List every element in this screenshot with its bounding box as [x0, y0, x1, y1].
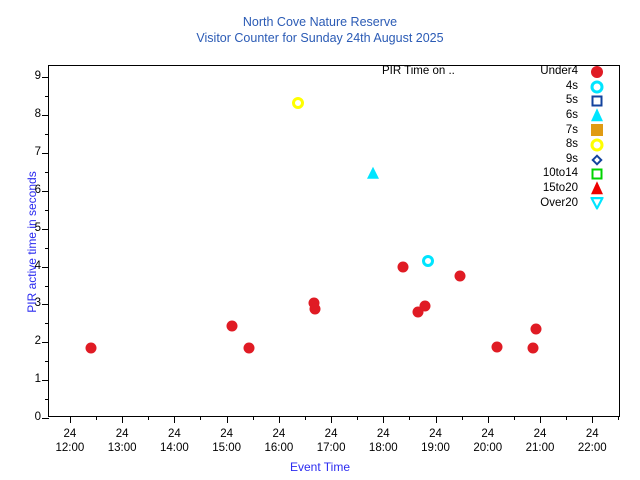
marker-triangle-up-filled — [591, 108, 603, 121]
legend-item-marker — [584, 166, 610, 181]
y-axis-tick-label: 1 — [13, 373, 41, 385]
legend: PIR Time on .. Under44s5s6s7s8s9s10to141… — [382, 64, 610, 210]
x-axis-minor-tick — [96, 416, 97, 420]
y-axis-tick-label: 5 — [13, 222, 41, 234]
x-axis-tick — [383, 416, 384, 423]
legend-item-label: 9s — [566, 153, 584, 165]
legend-item-9s[interactable]: 9s — [382, 152, 610, 167]
data-point — [420, 300, 431, 311]
legend-item-label: 5s — [566, 94, 584, 106]
marker-diamond-open — [591, 154, 602, 165]
y-axis-minor-tick — [45, 134, 49, 135]
y-axis-tick — [42, 304, 49, 305]
legend-item-marker — [584, 195, 610, 210]
marker-triangle-down-open — [591, 197, 604, 210]
x-axis-tick-day: 24 — [557, 428, 627, 442]
x-axis-minor-tick — [618, 416, 619, 420]
data-point — [527, 343, 538, 354]
data-point — [455, 270, 466, 281]
marker-circle-open — [591, 138, 604, 151]
chart-title: North Cove Nature Reserve Visitor Counte… — [0, 14, 640, 46]
y-axis-tick — [42, 115, 49, 116]
legend-item-15to20[interactable]: 15to20 — [382, 181, 610, 196]
y-axis-tick — [42, 267, 49, 268]
legend-item-over20[interactable]: Over20 — [382, 195, 610, 210]
y-axis-tick — [42, 229, 49, 230]
y-axis-tick-label: 8 — [13, 108, 41, 120]
marker-triangle-up-filled — [591, 181, 603, 194]
marker-square-open — [592, 169, 603, 180]
legend-item-10to14[interactable]: 10to14 — [382, 166, 610, 181]
x-axis-minor-tick — [305, 416, 306, 420]
data-point — [367, 167, 379, 179]
y-axis-tick-label: 4 — [13, 260, 41, 272]
data-point — [398, 261, 409, 272]
legend-item-label: Over20 — [540, 197, 584, 209]
legend-item-marker — [584, 64, 610, 79]
x-axis-minor-tick — [409, 416, 410, 420]
y-axis-tick — [42, 191, 49, 192]
y-axis-tick-label: 3 — [13, 297, 41, 309]
y-axis-tick-label: 6 — [13, 184, 41, 196]
y-axis-tick-label: 9 — [13, 70, 41, 82]
y-axis-tick-label: 0 — [13, 411, 41, 423]
x-axis-tick — [122, 416, 123, 423]
y-axis-minor-tick — [45, 361, 49, 362]
legend-item-marker — [584, 93, 610, 108]
y-axis-minor-tick — [45, 172, 49, 173]
y-axis-minor-tick — [45, 210, 49, 211]
x-axis-label: Event Time — [0, 460, 640, 474]
x-axis-tick-label: 2422:00 — [557, 428, 627, 455]
x-axis-tick-time: 22:00 — [557, 442, 627, 456]
y-axis-minor-tick — [45, 323, 49, 324]
y-axis-tick — [42, 77, 49, 78]
legend-item-6s[interactable]: 6s — [382, 108, 610, 123]
chart-title-line-1: North Cove Nature Reserve — [0, 14, 640, 30]
y-axis-minor-tick — [45, 286, 49, 287]
x-axis-minor-tick — [200, 416, 201, 420]
legend-item-marker — [584, 152, 610, 167]
x-axis-tick — [540, 416, 541, 423]
legend-item-7s[interactable]: 7s — [382, 122, 610, 137]
x-axis-tick — [227, 416, 228, 423]
y-axis-tick — [42, 380, 49, 381]
data-point — [85, 342, 96, 353]
data-point — [292, 97, 304, 109]
x-axis-tick — [436, 416, 437, 423]
x-axis-minor-tick — [148, 416, 149, 420]
legend-item-label: 4s — [566, 80, 584, 92]
legend-item-label: 15to20 — [543, 182, 584, 194]
x-axis-minor-tick — [253, 416, 254, 420]
marker-square-open — [592, 96, 603, 107]
data-point — [310, 304, 321, 315]
y-axis-tick-label: 7 — [13, 146, 41, 158]
data-point — [492, 341, 503, 352]
data-point — [243, 343, 254, 354]
chart-title-line-2: Visitor Counter for Sunday 24th August 2… — [0, 30, 640, 46]
legend-item-label: 6s — [566, 109, 584, 121]
marker-square-filled — [591, 124, 603, 136]
legend-item-marker — [584, 79, 610, 94]
legend-item-label: 10to14 — [543, 167, 584, 179]
x-axis-tick — [488, 416, 489, 423]
x-axis-minor-tick — [462, 416, 463, 420]
legend-item-label: Under4 — [540, 65, 584, 77]
y-axis-tick — [42, 153, 49, 154]
legend-item-marker — [584, 108, 610, 123]
y-axis-tick — [42, 418, 49, 419]
legend-item-8s[interactable]: 8s — [382, 137, 610, 152]
legend-item-under4[interactable]: Under4 — [382, 64, 610, 79]
y-axis-tick — [42, 342, 49, 343]
legend-item-marker — [584, 122, 610, 137]
marker-circle-filled — [591, 66, 603, 78]
legend-item-marker — [584, 137, 610, 152]
x-axis-tick — [279, 416, 280, 423]
y-axis-minor-tick — [45, 399, 49, 400]
chart-canvas: North Cove Nature Reserve Visitor Counte… — [0, 0, 640, 480]
y-axis-minor-tick — [45, 96, 49, 97]
legend-item-marker — [584, 181, 610, 196]
x-axis-tick — [592, 416, 593, 423]
x-axis-tick — [174, 416, 175, 423]
x-axis-minor-tick — [566, 416, 567, 420]
legend-item-label: 7s — [566, 124, 584, 136]
legend-item-4s[interactable]: 4s — [382, 79, 610, 94]
legend-item-label: 8s — [566, 138, 584, 150]
data-point — [530, 324, 541, 335]
x-axis-tick — [331, 416, 332, 423]
marker-circle-open — [591, 80, 604, 93]
y-axis-tick-label: 2 — [13, 335, 41, 347]
legend-item-5s[interactable]: 5s — [382, 93, 610, 108]
data-point — [226, 321, 237, 332]
x-axis-minor-tick — [514, 416, 515, 420]
x-axis-minor-tick — [357, 416, 358, 420]
data-point — [422, 255, 434, 267]
y-axis-minor-tick — [45, 248, 49, 249]
x-axis-tick — [70, 416, 71, 423]
